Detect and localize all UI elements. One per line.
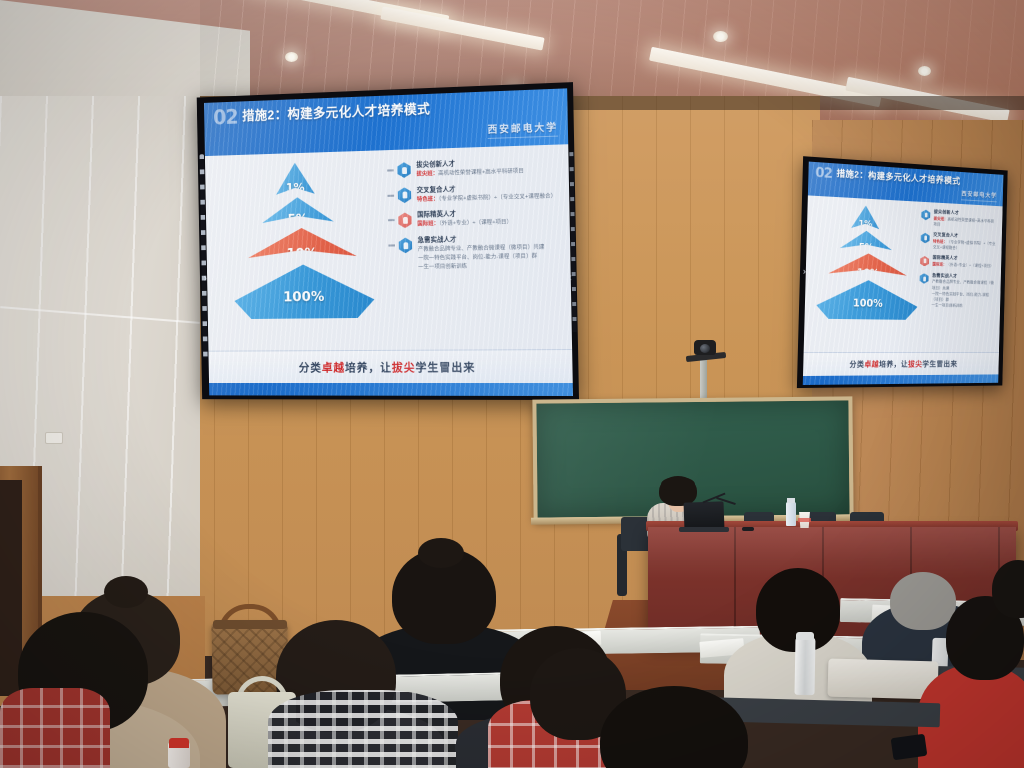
pyramid-layer: 100% <box>234 263 375 319</box>
water-bottle <box>786 502 796 526</box>
pyramid-layer: 100% <box>816 279 918 320</box>
pyramid-layer-label: 100% <box>853 298 883 310</box>
banner-highlight-1: 卓越 <box>322 362 345 374</box>
globe-shield-icon <box>920 256 929 267</box>
pyramid-layer-label: 1% <box>286 181 305 195</box>
bullet-detail-text: （外语+专业）+（课程+项目） <box>439 220 512 228</box>
light-switch[interactable] <box>45 432 63 444</box>
bullet-dash-icon: ▬ <box>388 217 395 231</box>
bullet-detail: 国际班：（外语+专业）+（课程+项目） <box>932 262 995 270</box>
slide-section-number: 02 <box>815 166 832 181</box>
bullet-tag: 国际班： <box>417 221 439 227</box>
banner-prefix: 分类 <box>299 362 322 374</box>
person-shield-icon <box>921 233 930 244</box>
bullet-item: ▬ 国际精英人才 国际班：（外语+专业）+（课程+项目） <box>388 208 558 230</box>
bullet-detail: 国际班：（外语+专业）+（课程+项目） <box>417 218 558 230</box>
bullet-item: ▬ 急需实战人才 产教融合品牌专业、产教融合微课程（微项目）共建 一院一特色实践… <box>388 234 558 273</box>
pyramid-layer-label: 100% <box>283 289 324 305</box>
bullet-detail-line3: 一生一项目创新训练 <box>418 261 559 272</box>
handbag-top-trim <box>213 620 287 629</box>
bullet-tag: 国际班： <box>932 262 946 267</box>
slide-bullet-list: 拔尖创新人才 拔尖班：高机动性荣誉课程+高水平科研项目 交叉复合人才 特色班：（… <box>912 206 999 352</box>
banner-middle: 培养，让 <box>345 362 392 374</box>
slide-bullet-list: ▬ 拔尖创新人才 拔尖班：高机动性荣誉课程+高水平科研项目 ▬ 交叉复合人才 特… <box>374 152 567 350</box>
bullet-tag: 拔尖班： <box>416 171 438 178</box>
slide-banner: 分类卓越培养，让拔尖学生冒出来 <box>208 349 572 383</box>
bullet-tag: 特色班： <box>417 196 439 202</box>
slide-body: 1% 5% 10% 100% ▬ 拔尖创新人才 拔尖班：高机动性荣誉课程+高水平… <box>205 144 572 350</box>
banner-highlight-2: 拔尖 <box>392 362 416 374</box>
bullet-dash-icon: ▬ <box>387 192 394 206</box>
ceiling-downlight <box>713 31 728 42</box>
talent-pyramid-chart: 1% 5% 10% 100% <box>827 204 893 285</box>
secondary-projection-screen[interactable]: › 02 措施2：构建多元化人才培养模式 西安邮电大学 1% 5% 10% 10… <box>797 156 1008 388</box>
bullet-detail-text: （专业学院+虚拟书院）+（专业交叉+课程融合） <box>439 193 557 202</box>
water-bottle-cap <box>787 498 795 503</box>
banner-middle: 培养，让 <box>879 360 908 369</box>
person-shield-icon <box>399 237 413 253</box>
banner-prefix: 分类 <box>849 360 864 369</box>
bullet-detail: 拔尖班：高机动性荣誉课程+高水平科研项目 <box>933 216 996 231</box>
paper-cup-band <box>798 518 811 522</box>
bullet-detail-text: （外语+专业）+（课程+项目） <box>946 262 993 268</box>
bullet-detail-text: 高机动性荣誉课程+高水平科研项目 <box>438 168 524 176</box>
banner-text: 分类卓越培养，让拔尖学生冒出来 <box>299 359 476 375</box>
bullet-item: 国际精英人才 国际班：（外语+专业）+（课程+项目） <box>920 255 995 270</box>
bullet-item: 交叉复合人才 特色班：（专业学院+虚拟书院）+（专业交叉+课程融合） <box>920 232 996 253</box>
person-shield-icon <box>920 273 929 284</box>
slide-section-number: 02 <box>213 107 238 128</box>
university-logo: 西安邮电大学 <box>487 119 558 139</box>
banner-suffix: 学生冒出来 <box>922 360 957 369</box>
water-bottle-tall <box>794 637 815 695</box>
slide-title: 措施2：构建多元化人才培养模式 <box>836 167 998 190</box>
banner-highlight-2: 拔尖 <box>908 360 922 369</box>
bullet-tag: 拔尖班： <box>934 216 948 221</box>
slide-canvas-secondary: 02 措施2：构建多元化人才培养模式 西安邮电大学 1% 5% 10% 100% <box>803 162 1004 385</box>
main-projection-screen[interactable]: › ‹ 02 措施2：构建多元化人才培养模式 西安邮电大学 1% 5% 10% … <box>197 82 579 400</box>
pyramid-layer: 1% <box>276 162 315 203</box>
ceiling-downlight <box>918 66 931 76</box>
globe-shield-icon <box>398 212 412 228</box>
person-shield-icon <box>398 187 412 203</box>
talent-pyramid-chart: 1% 5% 10% 100% <box>245 160 377 317</box>
audience-plaid-jacket <box>0 688 110 768</box>
bullet-item: ▬ 交叉复合人才 特色班：（专业学院+虚拟书院）+（专业交叉+课程融合） <box>387 182 557 205</box>
person-shield-icon <box>397 162 411 178</box>
bullet-dash-icon: ▬ <box>388 242 395 273</box>
water-bottle-cap <box>796 632 814 640</box>
microphone-base <box>742 527 754 531</box>
pyramid-layer: 1% <box>851 205 880 236</box>
bullet-item: 急需实战人才 产教融合品牌专业、产教融合微课程（微项目）共建 一院一特色实践平台… <box>919 272 995 309</box>
camera-lens-icon <box>700 344 710 353</box>
university-logo: 西安邮电大学 <box>961 189 997 202</box>
lecture-hall-scene: › ‹ 02 措施2：构建多元化人才培养模式 西安邮电大学 1% 5% 10% … <box>0 0 1024 768</box>
phone[interactable] <box>891 734 928 761</box>
bullet-dash-icon: ▬ <box>387 167 394 181</box>
banner-highlight-1: 卓越 <box>864 360 879 369</box>
pyramid-layer-label: 5% <box>859 241 874 252</box>
water-bottle-cap <box>169 738 189 748</box>
slide-footer-bar <box>803 374 999 385</box>
slide-body: 1% 5% 10% 100% 拔尖创新人才 拔尖班：高机动性荣誉课程+高水平科研… <box>804 195 1003 352</box>
presenter-laptop-base[interactable] <box>679 527 729 532</box>
bullet-detail: 特色班：（专业学院+虚拟书院）+（专业交叉+课程融合） <box>933 239 996 253</box>
bullet-item: ▬ 拔尖创新人才 拔尖班：高机动性荣誉课程+高水平科研项目 <box>387 157 557 180</box>
pyramid-layer-label: 5% <box>287 212 308 227</box>
banner-suffix: 学生冒出来 <box>415 362 475 374</box>
audience-patterned-sweater <box>268 690 458 768</box>
ceiling-downlight <box>285 52 298 62</box>
audience-head <box>890 572 956 630</box>
bullet-detail-line3: 一生一项目创新训练 <box>931 303 994 310</box>
person-shield-icon <box>921 209 930 220</box>
pyramid-layer-label: 10% <box>286 246 317 262</box>
pyramid-layer-label: 1% <box>858 219 872 229</box>
presenter-fringe <box>661 477 695 491</box>
audience-hair-bun <box>104 576 148 608</box>
bullet-item: 拔尖创新人才 拔尖班：高机动性荣誉课程+高水平科研项目 <box>921 209 997 231</box>
slide-canvas: 02 措施2：构建多元化人才培养模式 西安邮电大学 1% 5% 10% 100%… <box>204 88 573 396</box>
slide-footer-bar <box>209 383 573 396</box>
slide-banner: 分类卓越培养，让拔尖学生冒出来 <box>803 352 999 376</box>
audience-hair-bun <box>418 538 464 568</box>
banner-text: 分类卓越培养，让拔尖学生冒出来 <box>849 359 957 370</box>
bullet-tag: 特色班： <box>933 239 947 244</box>
pyramid-layer-label: 10% <box>857 266 880 278</box>
